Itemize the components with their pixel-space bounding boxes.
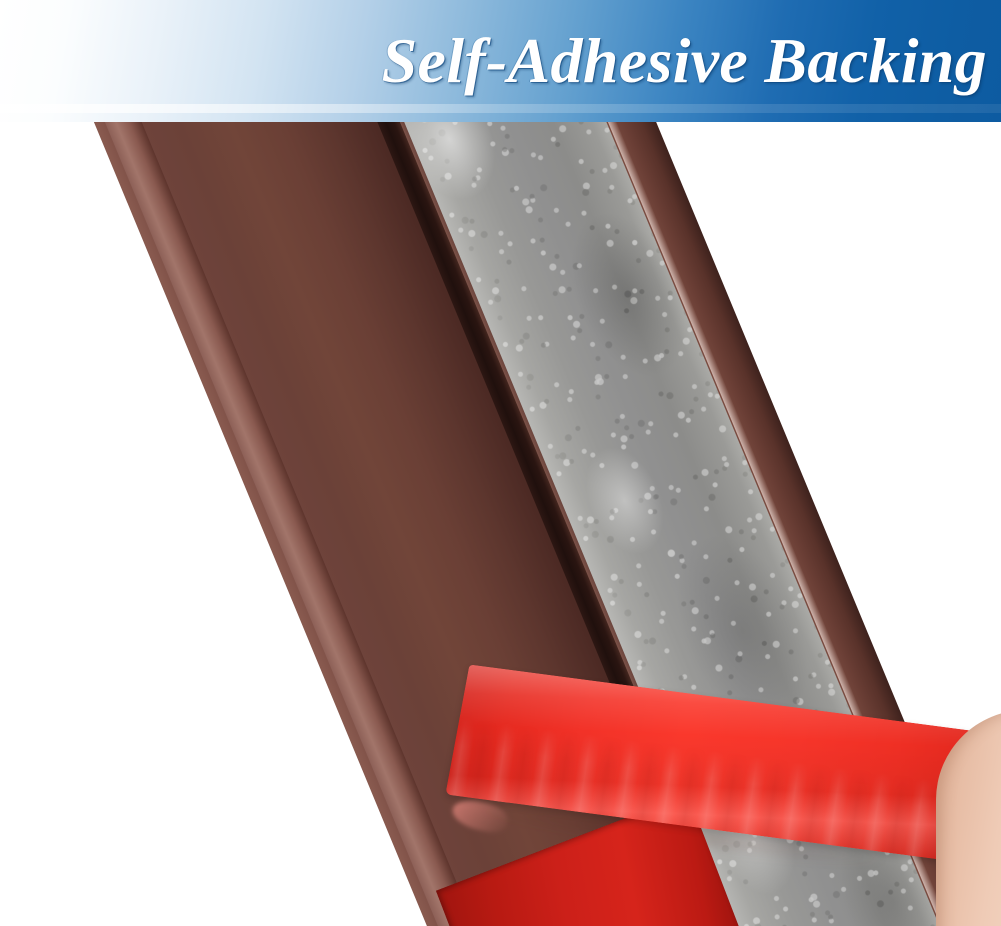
banner-title: Self-Adhesive Backing: [0, 0, 1001, 122]
product-photo: [0, 122, 1001, 926]
product-feature-image: Self-Adhesive Backing The flexible floor…: [0, 0, 1001, 926]
